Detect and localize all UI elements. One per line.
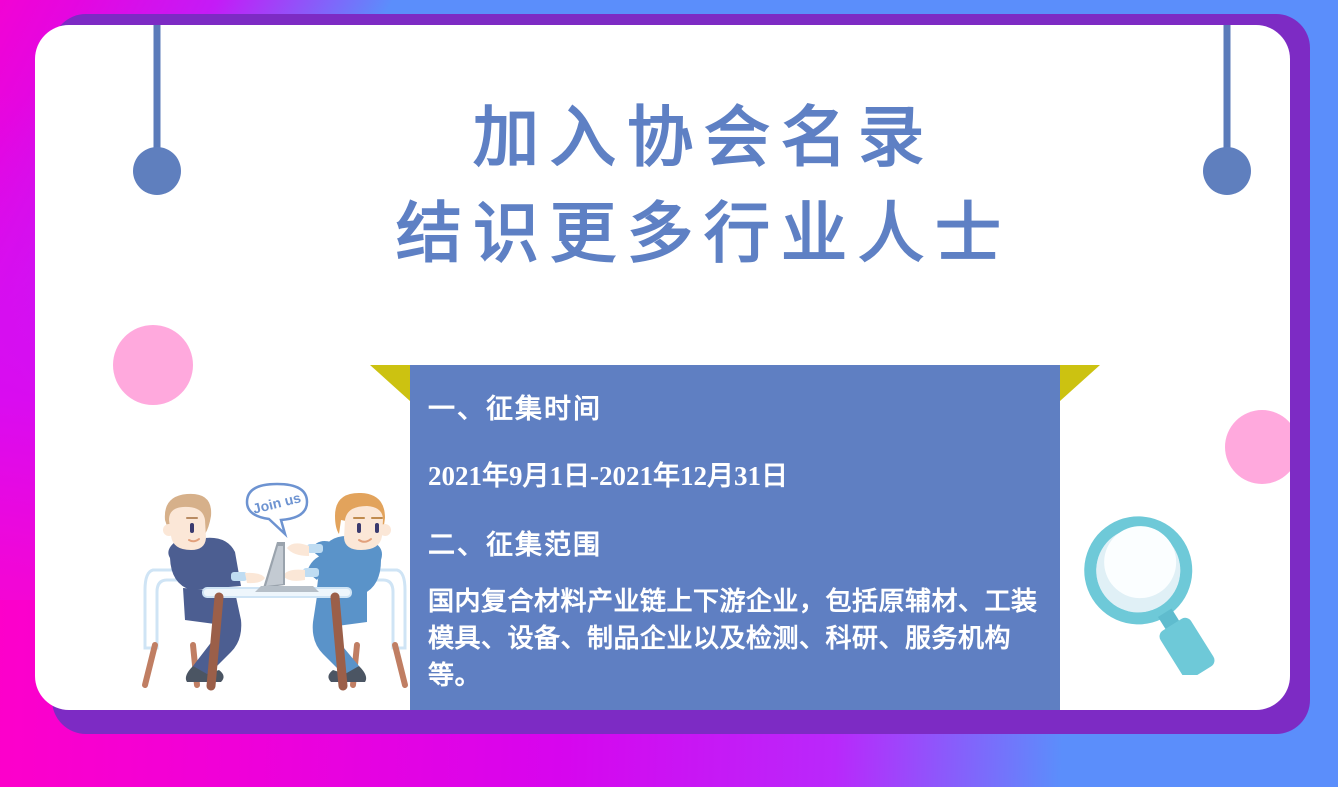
poster-stage: 加入协会名录 结识更多行业人士 bbox=[0, 0, 1338, 787]
poster-title: 加入协会名录 结识更多行业人士 bbox=[35, 97, 1290, 278]
section-2-heading: 二、征集范围 bbox=[424, 523, 1046, 562]
info-panel: 一、征集时间 2021年9月1日-2021年12月31日 二、征集范围 国内复合… bbox=[410, 365, 1060, 710]
poster-title-line-2: 结识更多行业人士 bbox=[35, 193, 1290, 277]
meeting-illustration: Join us bbox=[135, 480, 415, 695]
poster-title-line-1: 加入协会名录 bbox=[35, 97, 1290, 181]
section-1-date-range: 2021年9月1日-2021年12月31日 bbox=[424, 454, 1046, 493]
section-1-heading: 一、征集时间 bbox=[424, 387, 1046, 426]
pink-circle-decoration-right bbox=[1225, 410, 1290, 484]
info-panel-wrapper: 一、征集时间 2021年9月1日-2021年12月31日 二、征集范围 国内复合… bbox=[410, 365, 1060, 710]
section-2-body: 国内复合材料产业链上下游企业，包括原辅材、工装模具、设备、制品企业以及检测、科研… bbox=[424, 584, 1046, 695]
content-card: 加入协会名录 结识更多行业人士 bbox=[35, 25, 1290, 710]
pink-circle-decoration-left bbox=[113, 325, 193, 405]
ribbon-right-icon bbox=[1060, 365, 1100, 401]
ribbon-left-icon bbox=[370, 365, 410, 401]
magnifier-icon bbox=[1065, 495, 1245, 675]
